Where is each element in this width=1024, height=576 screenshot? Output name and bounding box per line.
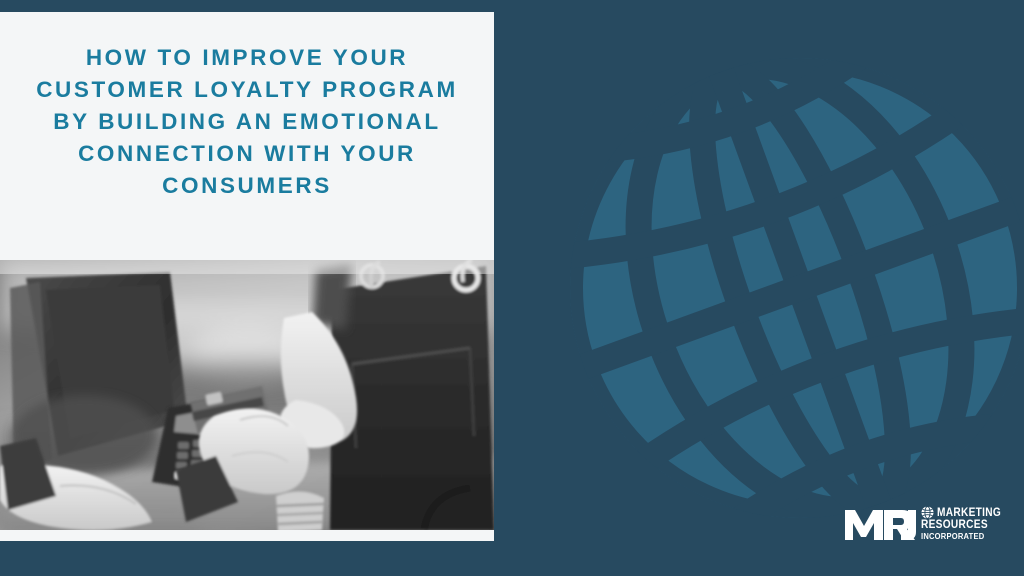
logo-line-incorporated: INCORPORATED (921, 532, 984, 541)
logo-wordmark: MARKETING RESOURCES INCORPORATED (921, 506, 1010, 542)
hero-photo (0, 260, 494, 530)
title-region: How to improve your customer loyalty pro… (0, 12, 494, 248)
card-footer-strip (0, 530, 494, 541)
content-card: How to improve your customer loyalty pro… (0, 12, 494, 541)
mri-monogram-icon (844, 502, 916, 542)
logo-line-marketing: MARKETING (937, 507, 1001, 519)
brand-logo: MARKETING RESOURCES INCORPORATED (844, 502, 1010, 542)
globe-icon (921, 506, 934, 519)
page-title: How to improve your customer loyalty pro… (32, 42, 462, 202)
slide-canvas: How to improve your customer loyalty pro… (0, 0, 1024, 576)
